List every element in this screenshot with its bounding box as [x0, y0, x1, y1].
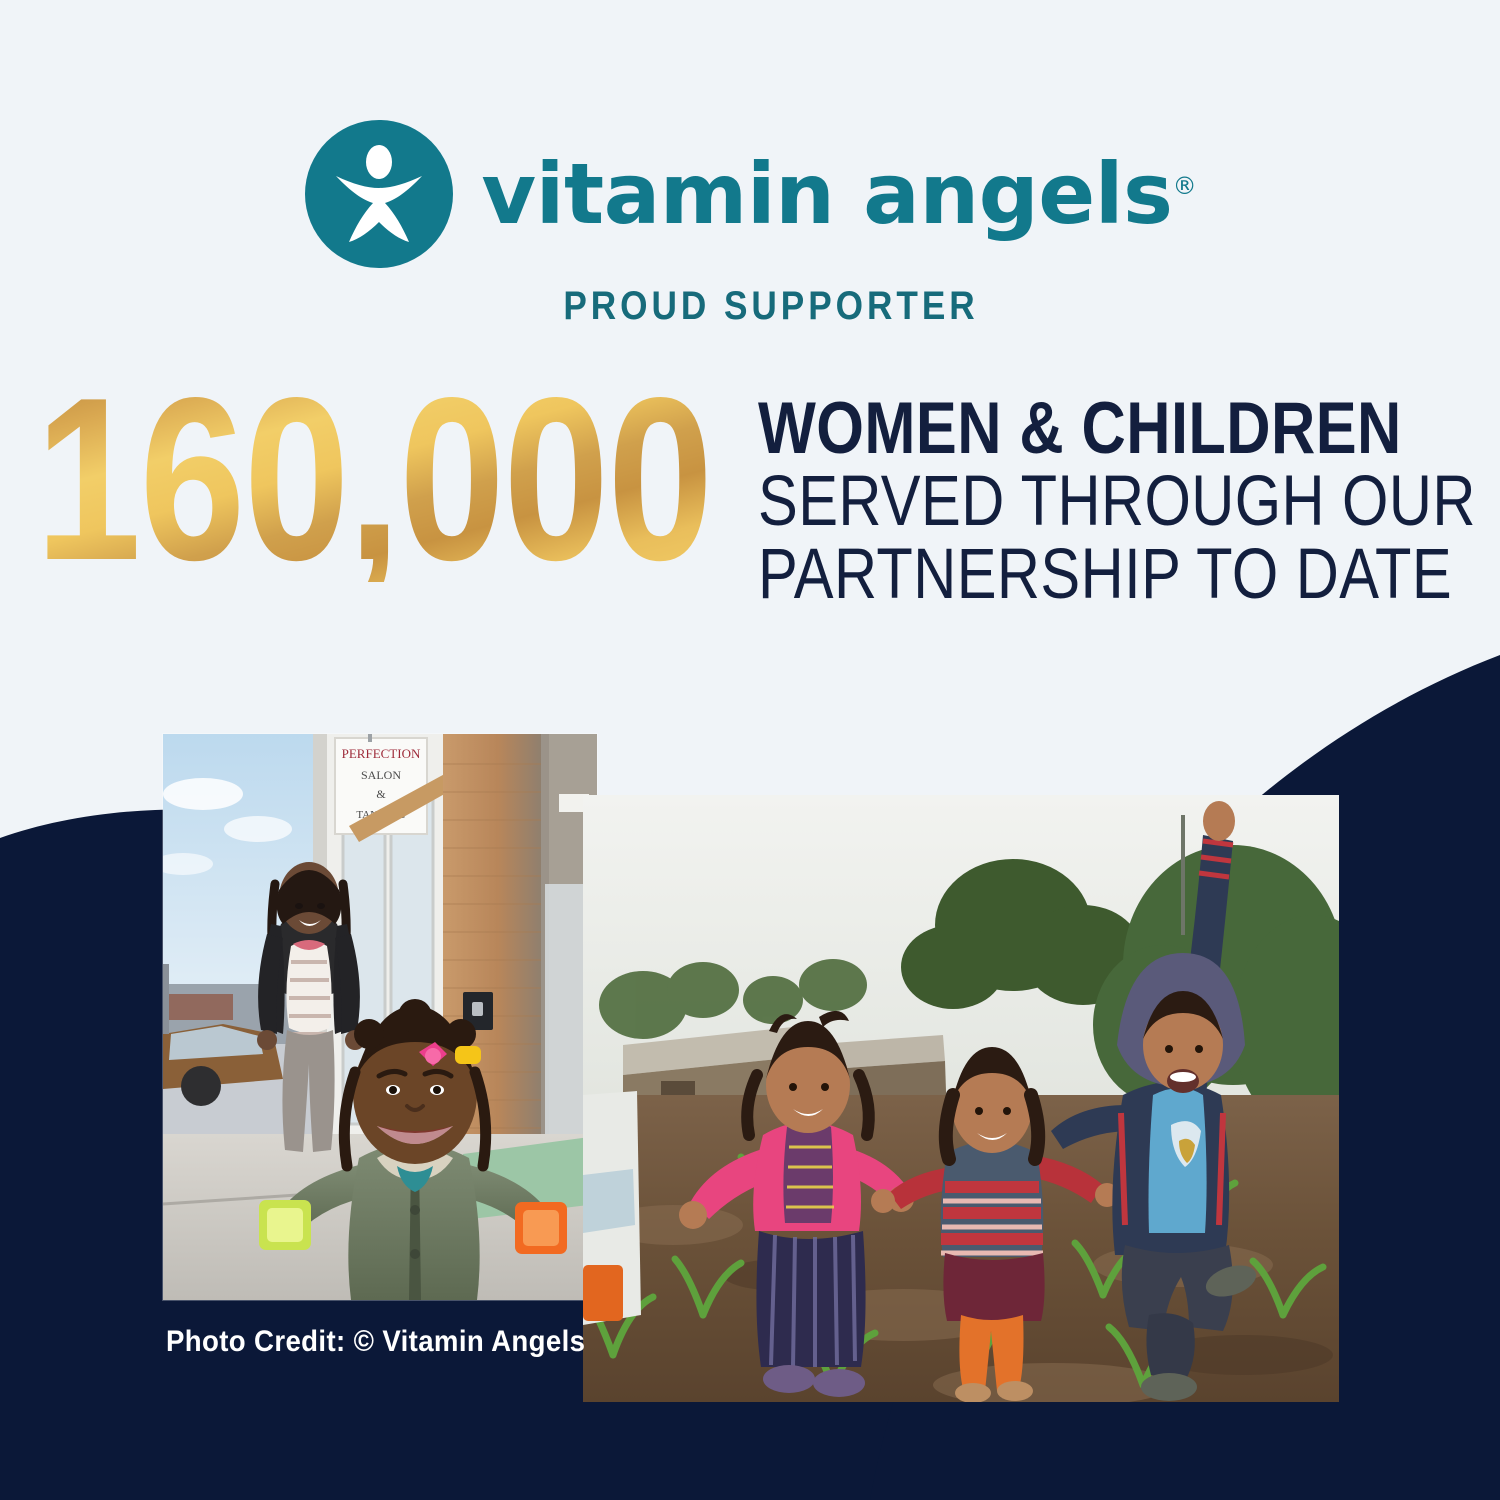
stat-row: 160,000 WOMEN & CHILDREN SERVED THROUGH … [0, 378, 1500, 611]
vitamin-angels-angel-icon [303, 118, 455, 270]
stat-headline: WOMEN & CHILDREN SERVED THROUGH OUR PART… [758, 378, 1476, 611]
logo-row: vitamin angels® [303, 118, 1196, 270]
logo-tagline: PROUD SUPPORTER [563, 284, 978, 329]
photo-children-in-cornfield [583, 795, 1339, 1402]
stat-number: 160,000 [36, 378, 712, 582]
registered-trademark-icon: ® [1173, 172, 1197, 200]
headline-line-2: SERVED THROUGH OUR [758, 466, 1476, 538]
logo-wordmark: vitamin angels® [481, 152, 1196, 236]
photo-credit: Photo Credit: © Vitamin Angels [166, 1325, 585, 1359]
svg-text:&: & [376, 787, 386, 801]
svg-text:PERFECTION: PERFECTION [342, 746, 421, 761]
brand-lockup: vitamin angels® PROUD SUPPORTER [0, 118, 1500, 329]
headline-line-3: PARTNERSHIP TO DATE [758, 539, 1476, 611]
promo-graphic: vitamin angels® PROUD SUPPORTER 160,000 … [0, 0, 1500, 1500]
photo-mother-and-daughter: PERFECTION SALON & TANNING [163, 734, 597, 1300]
svg-text:SALON: SALON [361, 768, 401, 782]
logo-wordmark-text: vitamin angels [481, 145, 1172, 243]
headline-line-1: WOMEN & CHILDREN [758, 392, 1476, 466]
